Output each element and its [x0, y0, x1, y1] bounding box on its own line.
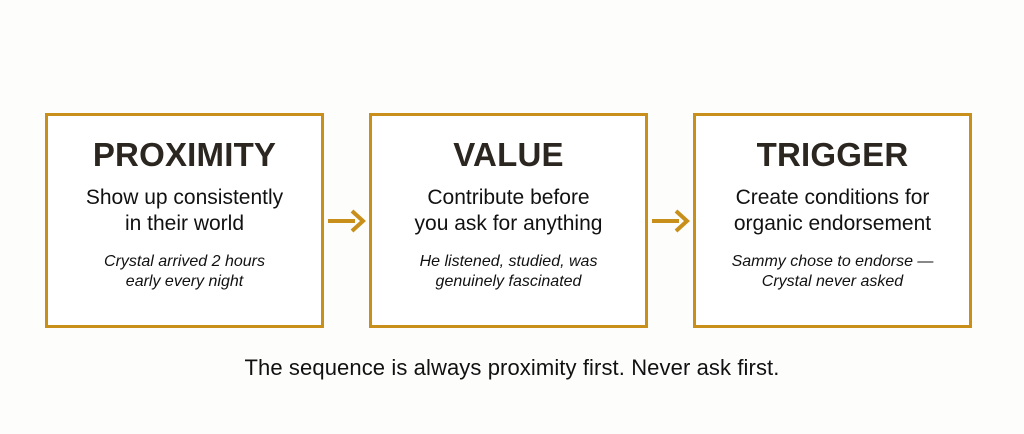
process-flow: PROXIMITY Show up consistently in their … [45, 113, 972, 328]
stage-box-value: VALUE Contribute before you ask for anyt… [369, 113, 648, 328]
connector-2 [648, 113, 693, 328]
stage-title: TRIGGER [757, 138, 909, 171]
stage-example: He listened, studied, was genuinely fasc… [420, 252, 598, 292]
stage-title: PROXIMITY [93, 138, 276, 171]
stage-example: Crystal arrived 2 hours early every nigh… [104, 252, 265, 292]
diagram-canvas: PROXIMITY Show up consistently in their … [0, 0, 1024, 434]
stage-description: Contribute before you ask for anything [415, 185, 603, 236]
stage-box-trigger: TRIGGER Create conditions for organic en… [693, 113, 972, 328]
arrow-right-icon [651, 208, 691, 234]
stage-box-proximity: PROXIMITY Show up consistently in their … [45, 113, 324, 328]
stage-example: Sammy chose to endorse — Crystal never a… [732, 252, 934, 292]
arrow-right-icon [327, 208, 367, 234]
connector-1 [324, 113, 369, 328]
diagram-caption: The sequence is always proximity first. … [0, 355, 1024, 381]
stage-description: Show up consistently in their world [86, 185, 283, 236]
stage-title: VALUE [453, 138, 563, 171]
stage-description: Create conditions for organic endorsemen… [734, 185, 931, 236]
